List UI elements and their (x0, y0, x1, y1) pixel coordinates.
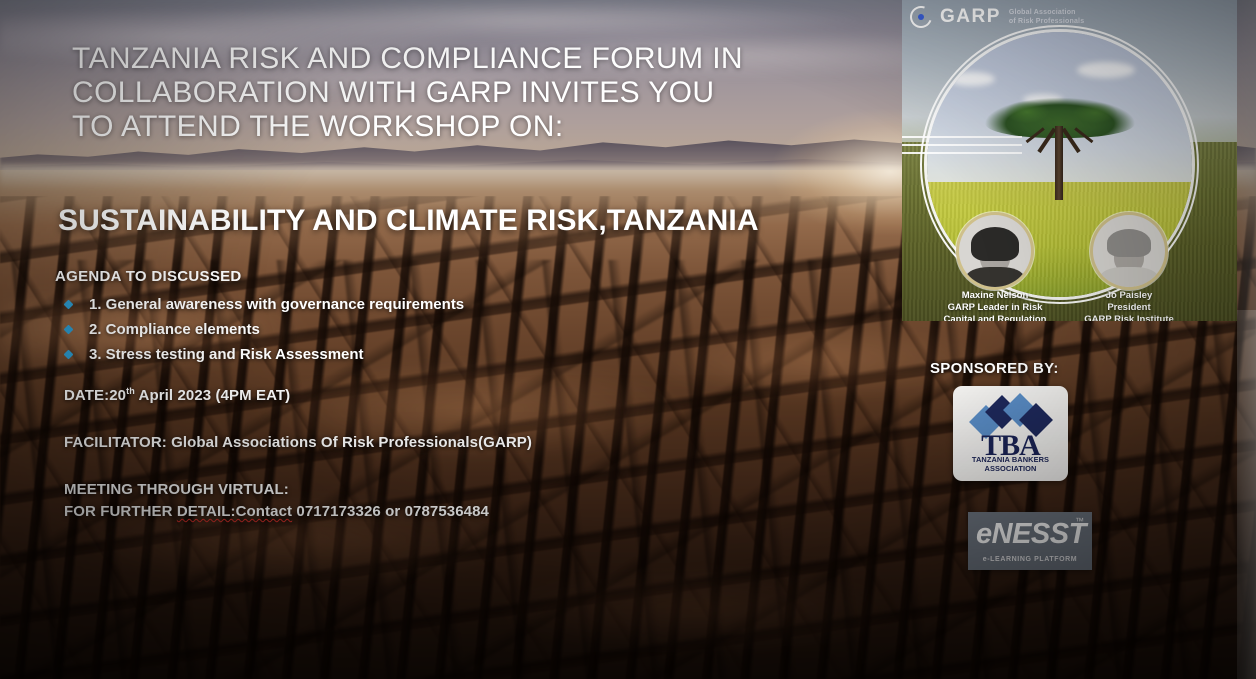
workshop-title: SUSTAINABILITY AND CLIMATE RISK,TANZANIA (58, 203, 908, 239)
presenter-role-line-1: President (1054, 302, 1204, 314)
headline: TANZANIA RISK AND COMPLIANCE FORUM IN CO… (72, 42, 872, 144)
agenda-list: 1. General awareness with governance req… (63, 292, 464, 367)
date-ordinal-suffix: th (126, 386, 135, 396)
decorative-line (902, 144, 1022, 146)
presenter-role-line-2: GARP Risk Institute (1054, 314, 1204, 321)
diamond-bullet-icon (64, 325, 74, 335)
presenter-role-line-1: GARP Leader in Risk (920, 302, 1070, 314)
avatar (1093, 215, 1165, 287)
decorative-line (902, 136, 1022, 138)
enesst-trademark-icon: ™ (1075, 516, 1084, 526)
agenda-item-label: 2. Compliance elements (89, 321, 260, 338)
meeting-line: MEETING THROUGH VIRTUAL: (64, 481, 764, 498)
flyer-slide: TANZANIA RISK AND COMPLIANCE FORUM IN CO… (0, 0, 1256, 679)
decorative-line (902, 152, 1022, 154)
garp-tagline: Global Association of Risk Professionals (1009, 8, 1084, 26)
facilitator-line: FACILITATOR: Global Associations Of Risk… (64, 434, 764, 451)
sponsored-by-label: SPONSORED BY: (930, 360, 1059, 377)
contact-prefix: FOR FURTHER (64, 503, 177, 520)
garp-tagline-line-1: Global Association (1009, 8, 1084, 17)
enesst-tagline: e-LEARNING PLATFORM (968, 556, 1092, 563)
avatar (959, 215, 1031, 287)
enesst-wordmark: eNESST (976, 518, 1086, 550)
presenter-name: Jo Paisley (1054, 290, 1204, 302)
tba-logo: TBA TANZANIA BANKERS ASSOCIATION (953, 386, 1068, 481)
contact-line: FOR FURTHER DETAIL:Contact 0717173326 or… (64, 503, 764, 520)
diamond-bullet-icon (64, 300, 74, 310)
garp-tagline-line-2: of Risk Professionals (1009, 17, 1084, 26)
event-details: DATE:20th April 2023 (4PM EAT) FACILITAT… (64, 386, 764, 520)
date-rest: April 2023 (4PM EAT) (135, 387, 290, 404)
decorative-lines (902, 136, 1022, 160)
garp-mark-icon (910, 6, 932, 28)
agenda-item-label: 3. Stress testing and Risk Assessment (89, 346, 364, 363)
agenda-item: 3. Stress testing and Risk Assessment (63, 342, 464, 367)
agenda-item-label: 1. General awareness with governance req… (89, 296, 464, 313)
avatar-body (1100, 267, 1158, 287)
presenter-role-line-2: Capital and Regulation (920, 314, 1070, 321)
agenda-heading: AGENDA TO DISCUSSED (55, 268, 242, 285)
presenters: Maxine Nelson GARP Leader in Risk Capita… (902, 215, 1237, 321)
presenter-name: Maxine Nelson (920, 290, 1070, 302)
presenter-jo-paisley: Jo Paisley President GARP Risk Institute (1054, 215, 1204, 321)
headline-line-1: TANZANIA RISK AND COMPLIANCE FORUM IN (72, 42, 872, 76)
contact-numbers: 0717173326 or 0787536484 (292, 503, 489, 520)
agenda-item: 1. General awareness with governance req… (63, 292, 464, 317)
avatar-body (966, 267, 1024, 287)
presenter-maxine-nelson: Maxine Nelson GARP Leader in Risk Capita… (920, 215, 1070, 321)
headline-line-3: TO ATTEND THE WORKSHOP ON: (72, 110, 872, 144)
headline-line-2: COLLABORATION WITH GARP INVITES YOU (72, 76, 872, 110)
tba-full-name: TANZANIA BANKERS ASSOCIATION (953, 455, 1068, 473)
date-line: DATE:20th April 2023 (4PM EAT) (64, 386, 764, 404)
date-label: DATE: (64, 387, 109, 404)
diamond-bullet-icon (64, 350, 74, 360)
garp-logo-wordmark: GARP (940, 7, 1001, 27)
avatar-hair (1107, 229, 1151, 257)
tba-roof-icon (972, 396, 1050, 432)
agenda-item: 2. Compliance elements (63, 317, 464, 342)
avatar-hair (971, 227, 1019, 261)
date-day: 20 (109, 387, 126, 404)
contact-misspelled-word: DETAIL:Contact (177, 503, 292, 520)
garp-logo: GARP Global Association of Risk Professi… (910, 6, 1084, 28)
garp-promo-panel: GARP Global Association of Risk Professi… (902, 0, 1237, 321)
enesst-logo: eNESST ™ e-LEARNING PLATFORM (968, 512, 1092, 570)
